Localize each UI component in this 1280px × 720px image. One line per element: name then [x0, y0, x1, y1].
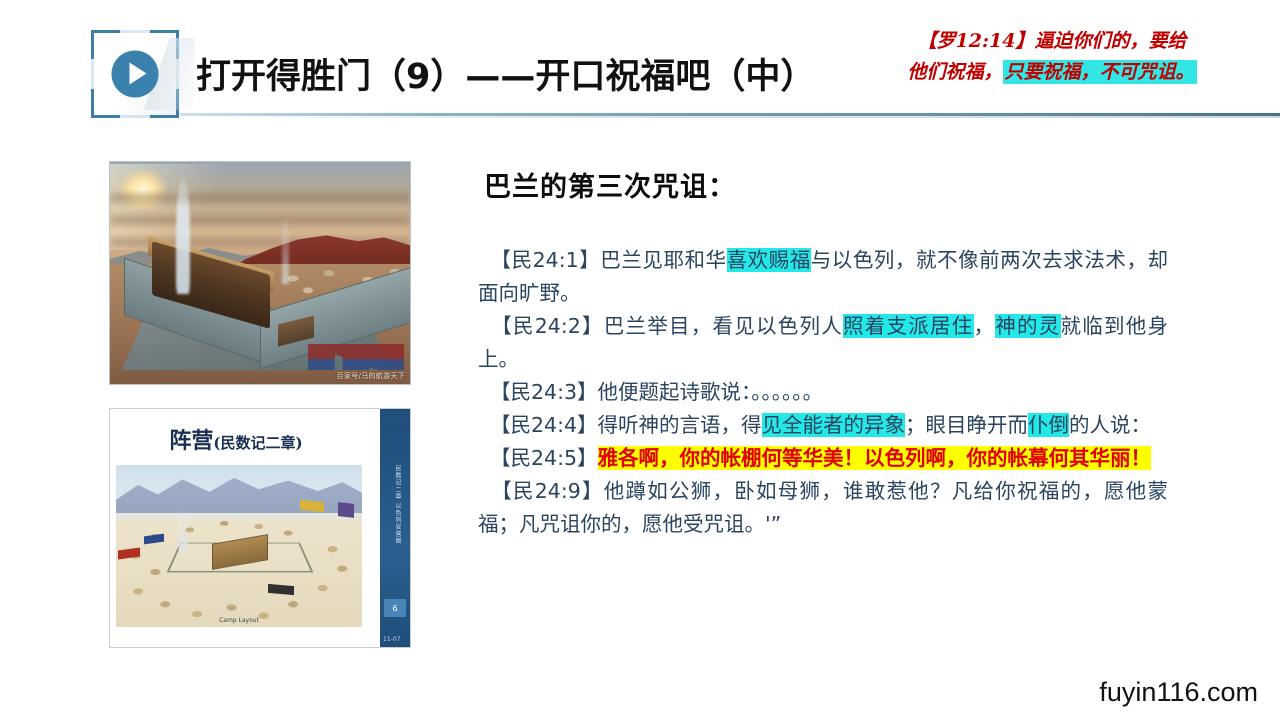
verse-reference: 【民24:1】: [490, 248, 600, 272]
verse-reference: 【民24:2】: [490, 314, 604, 338]
top-verse-reference: 【罗12:14】: [918, 30, 1035, 52]
camp-flag-purple: [338, 502, 354, 518]
verse-item: 【民24:9】他蹲如公狮，卧如母狮，谁敢惹他？凡给你祝福的，愿他蒙福；凡咒诅你的…: [478, 475, 1168, 541]
verse-text: 的人说：: [1069, 413, 1151, 437]
camp-image-title: 阵营(民数记二章): [110, 423, 362, 455]
verse-list: 【民24:1】巴兰见耶和华喜欢赐福与以色列，就不像前两次去求法术，却面向旷野。 …: [478, 244, 1168, 541]
verse-highlight-yellow: 雅各啊，你的帐棚何等华美！以色列啊，你的帐幕何其华丽！: [598, 446, 1152, 470]
camp-tribe-tents: [116, 465, 362, 627]
camp-title-main: 阵营: [169, 428, 213, 454]
camp-page-number: 6: [384, 599, 406, 617]
slide-header: 打开得胜门（9）——开口祝福吧（中） 【罗12:14】逼迫你们的，要给 他们祝福…: [0, 0, 1280, 128]
top-verse-line2-highlight: 只要祝福，不可咒诅。: [1003, 60, 1197, 84]
verse-text: ；眼目睁开而: [905, 413, 1028, 437]
tabernacle-cloud-band-2: [110, 215, 410, 225]
camp-drawing: Camp Layout: [116, 465, 362, 627]
camp-layout-illustration: 阵营(民数记二章) Camp Layout 民数记二章 以色列安营图 6 11-…: [109, 408, 411, 648]
verse-text: 巴兰举目，看见以色列人: [604, 314, 843, 338]
verse-reference: 【民24:3】: [490, 380, 598, 404]
verse-highlight-cyan: 神的灵: [995, 314, 1060, 338]
site-watermark: fuyin116.com: [1099, 677, 1258, 708]
tabernacle-illustration: 百家号/马的航游天下: [109, 161, 411, 385]
verse-text: 得听神的言语，得: [598, 413, 762, 437]
camp-sidebar-text: 民数记二章 以色列安营图: [393, 465, 402, 545]
verse-highlight-cyan: 照着支派居住: [843, 314, 974, 338]
frame-edge-left: [91, 56, 94, 92]
logo-frame: [91, 30, 179, 118]
tabernacle-sun: [120, 170, 166, 210]
tabernacle-credit-text: 百家号/马的航游天下: [337, 371, 405, 381]
verse-highlight-cyan: 见全能者的异象: [762, 413, 906, 437]
top-verse-line1: 逼迫你们的，要给: [1034, 30, 1186, 52]
verse-reference: 【民24:4】: [490, 413, 598, 437]
play-triangle-icon: [130, 63, 147, 85]
frame-edge-bottom: [117, 115, 153, 118]
tabernacle-pillar-of-cloud: [176, 176, 190, 294]
camp-title-sub: (民数记二章): [213, 434, 302, 452]
frame-corner-bottom-right: [150, 89, 179, 118]
verse-item: 【民24:5】雅各啊，你的帐棚何等华美！以色列啊，你的帐幕何其华丽！: [478, 442, 1168, 475]
play-button-icon[interactable]: [112, 51, 159, 98]
verse-reference: 【民24:9】: [490, 479, 604, 503]
section-title: 巴兰的第三次咒诅：: [484, 165, 736, 204]
frame-corner-bottom-left: [91, 89, 120, 118]
camp-caption: Camp Layout: [116, 617, 362, 624]
page-title: 打开得胜门（9）——开口祝福吧（中）: [196, 48, 815, 99]
verse-item: 【民24:2】巴兰举目，看见以色列人照着支派居住，神的灵就临到他身上。: [478, 310, 1168, 376]
frame-edge-top: [117, 30, 153, 33]
tabernacle-tribe-banners: [308, 344, 404, 370]
header-divider-shadow: [180, 116, 1280, 118]
verse-highlight-cyan: 喜欢赐福: [727, 248, 811, 272]
verse-text: 巴兰见耶和华: [600, 248, 726, 272]
tabernacle-altar-smoke: [282, 218, 289, 284]
frame-corner-top-left: [91, 30, 120, 59]
verse-item: 【民24:4】得听神的言语，得见全能者的异象；眼目睁开而仆倒的人说：: [478, 409, 1168, 442]
verse-highlight-cyan: 仆倒: [1028, 413, 1069, 437]
top-right-verse: 【罗12:14】逼迫你们的，要给 他们祝福，只要祝福，不可咒诅。: [882, 26, 1222, 88]
verse-text: ，: [974, 314, 996, 338]
top-verse-line2-plain: 他们祝福，: [907, 61, 1002, 83]
verse-text: 他便题起诗歌说：。。。。。。: [598, 380, 824, 404]
frame-edge-right: [176, 56, 179, 92]
tabernacle-cloud-band-1: [110, 193, 410, 203]
camp-side-panel: 民数记二章 以色列安营图 6 11-07: [380, 409, 410, 647]
verse-reference: 【民24:5】: [490, 446, 598, 470]
verse-item: 【民24:3】他便题起诗歌说：。。。。。。: [478, 376, 1168, 409]
verse-item: 【民24:1】巴兰见耶和华喜欢赐福与以色列，就不像前两次去求法术，却面向旷野。: [478, 244, 1168, 310]
frame-corner-top-right: [150, 30, 179, 59]
camp-date-label: 11-07: [383, 636, 400, 643]
